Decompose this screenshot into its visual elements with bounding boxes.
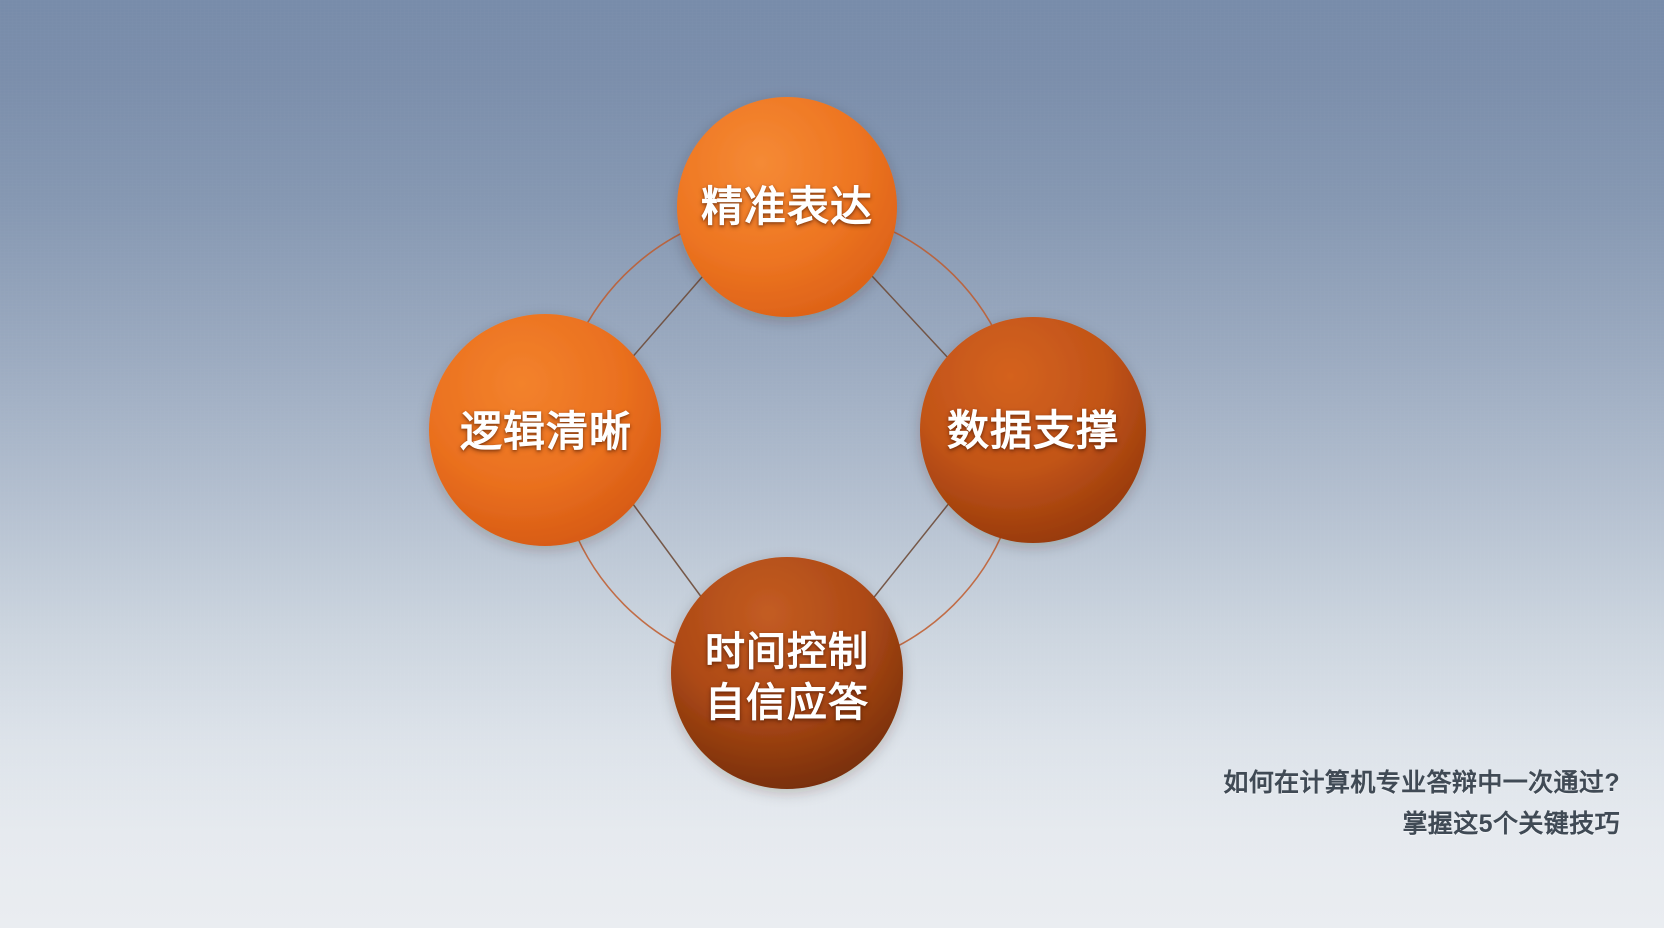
node-circle-bottom[interactable] [671,557,903,789]
node-circle-right[interactable] [920,317,1146,543]
connector-top-right [872,276,950,360]
slide-canvas: 精准表达 逻辑清晰 数据支撑 时间控制 自信应答 如何在计算机专业答辩中一次通过… [0,0,1664,928]
connector-left-bottom [630,500,705,602]
connector-right-bottom [871,502,950,601]
node-connectors [629,276,950,602]
caption: 如何在计算机专业答辩中一次通过? 掌握这5个关键技巧 [1223,763,1620,844]
node-circle-left[interactable] [429,314,661,546]
node-circle-top[interactable] [677,97,897,317]
caption-line-2: 掌握这5个关键技巧 [1223,804,1620,845]
connector-top-left [629,276,703,361]
caption-line-1: 如何在计算机专业答辩中一次通过? [1223,763,1620,804]
